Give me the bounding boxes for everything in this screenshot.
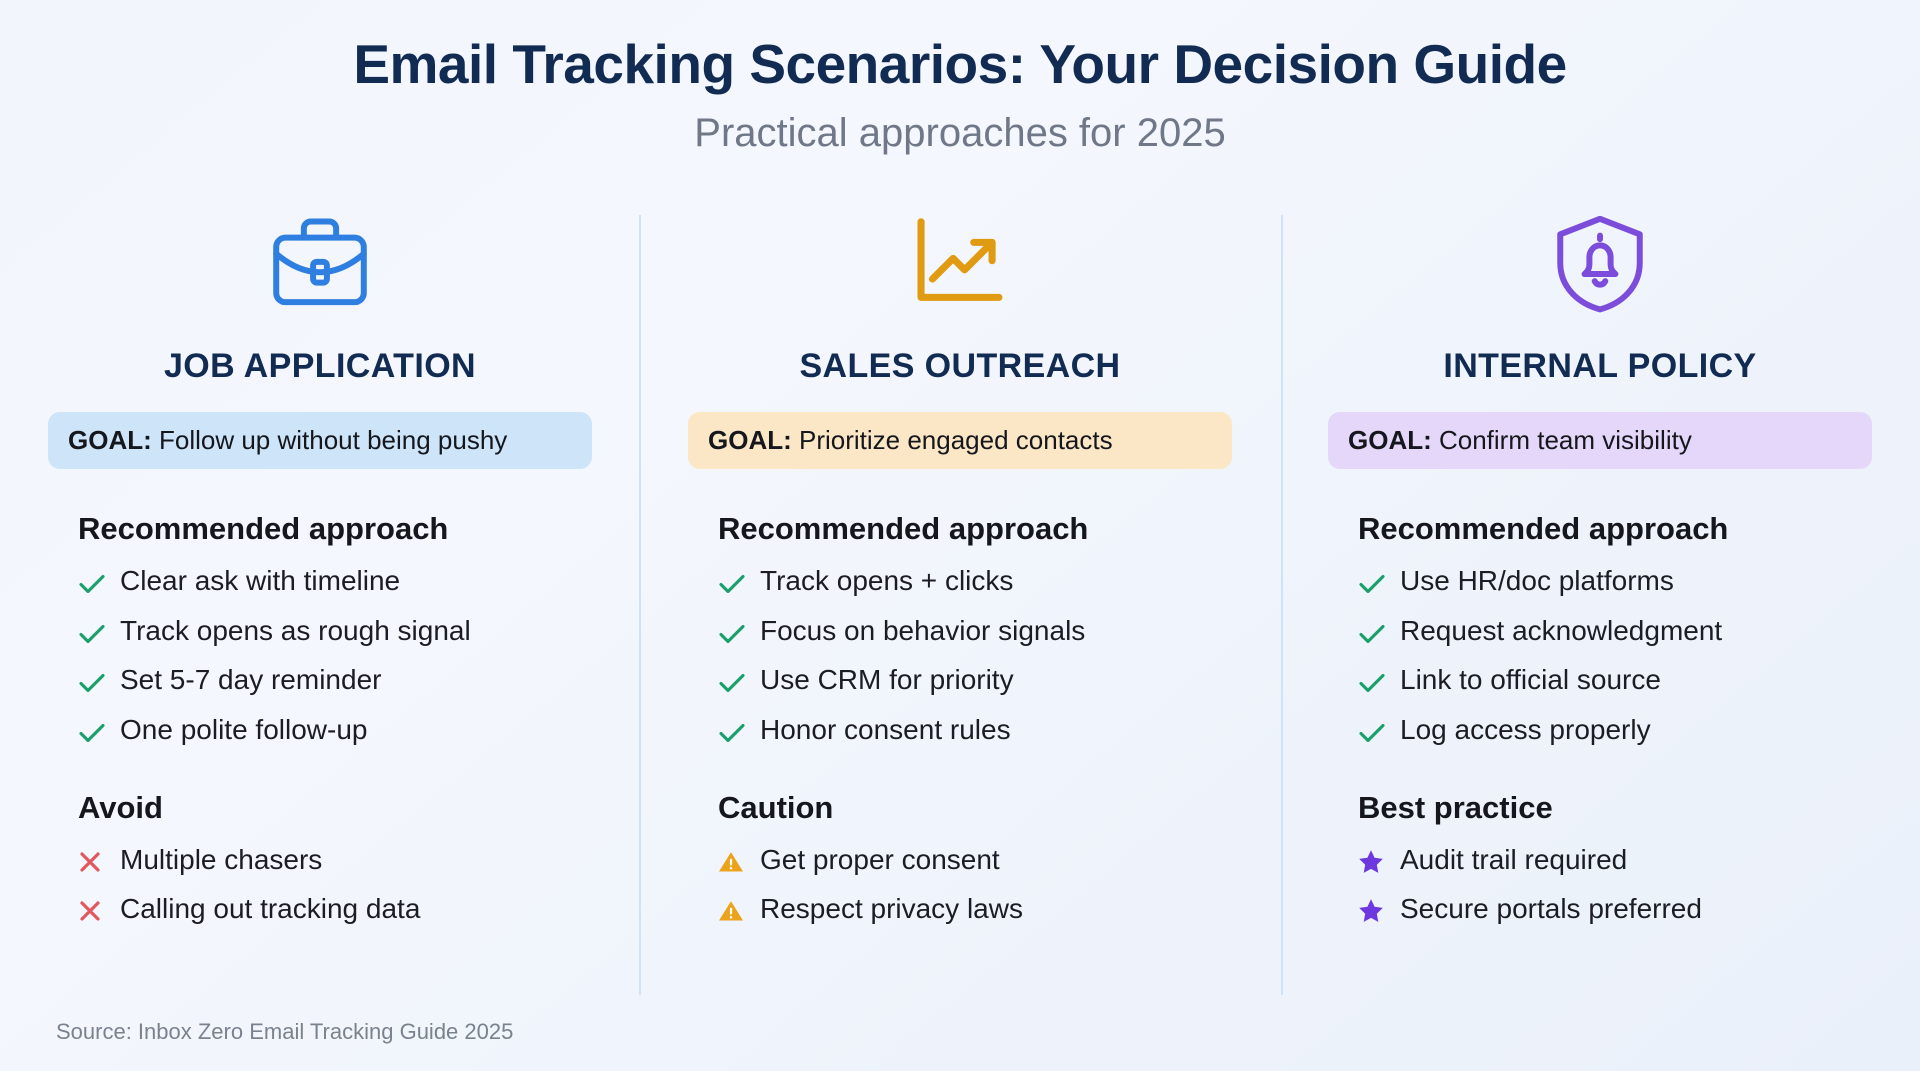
check-icon <box>718 715 746 756</box>
goal-text: Confirm team visibility <box>1432 425 1692 455</box>
section-heading: Best practice <box>1358 790 1872 826</box>
list-item-label: Honor consent rules <box>760 710 1011 751</box>
list-item: Track opens as rough signal <box>78 611 592 657</box>
list-item: Request acknowledgment <box>1358 611 1872 657</box>
cross-icon <box>78 894 102 935</box>
list-item-label: Focus on behavior signals <box>760 611 1085 652</box>
list-item: Secure portals preferred <box>1358 889 1872 935</box>
list-item-label: Audit trail required <box>1400 840 1627 881</box>
list-item: Calling out tracking data <box>78 889 592 935</box>
section-heading: Recommended approach <box>1358 511 1872 547</box>
list-item-label: Calling out tracking data <box>120 889 420 930</box>
check-icon <box>718 566 746 607</box>
page-subtitle: Practical approaches for 2025 <box>0 111 1920 155</box>
list-item: One polite follow-up <box>78 710 592 756</box>
column-title-internal-policy: INTERNAL POLICY <box>1328 347 1872 386</box>
check-icon <box>78 616 106 657</box>
check-icon <box>1358 566 1386 607</box>
list-item-label: Use CRM for priority <box>760 660 1014 701</box>
goal-label: GOAL: <box>68 425 152 455</box>
list-item-label: One polite follow-up <box>120 710 367 751</box>
section-heading: Recommended approach <box>78 511 592 547</box>
list-item: Use CRM for priority <box>718 660 1232 706</box>
list-item: Multiple chasers <box>78 840 592 886</box>
list-item-label: Link to official source <box>1400 660 1661 701</box>
check-icon <box>718 665 746 706</box>
warning-triangle-icon <box>718 845 744 886</box>
list-item: Respect privacy laws <box>718 889 1232 935</box>
section-sales-outreach-1: Caution Get proper consent Respect priva… <box>688 790 1232 935</box>
list-item-label: Log access properly <box>1400 710 1651 751</box>
bullet-list: Clear ask with timeline Track opens as r… <box>78 561 592 755</box>
goal-badge-job-application: GOAL: Follow up without being pushy <box>48 412 592 469</box>
bullet-list: Track opens + clicks Focus on behavior s… <box>718 561 1232 755</box>
section-sales-outreach-0: Recommended approach Track opens + click… <box>688 511 1232 755</box>
goal-badge-sales-outreach: GOAL: Prioritize engaged contacts <box>688 412 1232 469</box>
goal-label: GOAL: <box>1348 425 1432 455</box>
list-item-label: Track opens as rough signal <box>120 611 471 652</box>
section-internal-policy-1: Best practice Audit trail required Secur… <box>1328 790 1872 935</box>
check-icon <box>78 715 106 756</box>
list-item: Focus on behavior signals <box>718 611 1232 657</box>
list-item-label: Use HR/doc platforms <box>1400 561 1674 602</box>
list-item: Get proper consent <box>718 840 1232 886</box>
list-item-label: Track opens + clicks <box>760 561 1013 602</box>
check-icon <box>78 665 106 706</box>
list-item-label: Secure portals preferred <box>1400 889 1702 930</box>
star-icon <box>1358 894 1384 935</box>
check-icon <box>718 616 746 657</box>
bullet-list: Get proper consent Respect privacy laws <box>718 840 1232 935</box>
scenario-column-sales-outreach: SALES OUTREACHGOAL: Prioritize engaged c… <box>640 205 1280 939</box>
check-icon <box>78 566 106 607</box>
star-icon <box>1358 845 1384 886</box>
section-job-application-1: Avoid Multiple chasers Calling out track… <box>48 790 592 935</box>
list-item-label: Get proper consent <box>760 840 1000 881</box>
list-item: Use HR/doc platforms <box>1358 561 1872 607</box>
list-item-label: Multiple chasers <box>120 840 322 881</box>
check-icon <box>1358 715 1386 756</box>
column-title-sales-outreach: SALES OUTREACH <box>688 347 1232 386</box>
list-item: Set 5-7 day reminder <box>78 660 592 706</box>
section-heading: Avoid <box>78 790 592 826</box>
bullet-list: Audit trail required Secure portals pref… <box>1358 840 1872 935</box>
list-item-label: Clear ask with timeline <box>120 561 400 602</box>
list-item: Audit trail required <box>1358 840 1872 886</box>
scenario-column-internal-policy: INTERNAL POLICYGOAL: Confirm team visibi… <box>1280 205 1920 939</box>
bullet-list: Multiple chasers Calling out tracking da… <box>78 840 592 935</box>
infographic-page: Email Tracking Scenarios: Your Decision … <box>0 0 1920 1071</box>
scenario-column-job-application: JOB APPLICATIONGOAL: Follow up without b… <box>0 205 640 939</box>
source-footer: Source: Inbox Zero Email Tracking Guide … <box>56 1019 513 1045</box>
goal-badge-internal-policy: GOAL: Confirm team visibility <box>1328 412 1872 469</box>
bullet-list: Use HR/doc platforms Request acknowledgm… <box>1358 561 1872 755</box>
list-item-label: Set 5-7 day reminder <box>120 660 381 701</box>
header: Email Tracking Scenarios: Your Decision … <box>0 0 1920 155</box>
goal-label: GOAL: <box>708 425 792 455</box>
warning-triangle-icon <box>718 894 744 935</box>
section-heading: Recommended approach <box>718 511 1232 547</box>
goal-text: Follow up without being pushy <box>152 425 508 455</box>
list-item: Log access properly <box>1358 710 1872 756</box>
check-icon <box>1358 616 1386 657</box>
list-item-label: Respect privacy laws <box>760 889 1023 930</box>
list-item: Honor consent rules <box>718 710 1232 756</box>
section-heading: Caution <box>718 790 1232 826</box>
list-item: Link to official source <box>1358 660 1872 706</box>
column-title-job-application: JOB APPLICATION <box>48 347 592 386</box>
list-item: Clear ask with timeline <box>78 561 592 607</box>
section-internal-policy-0: Recommended approach Use HR/doc platform… <box>1328 511 1872 755</box>
cross-icon <box>78 845 102 886</box>
check-icon <box>1358 665 1386 706</box>
page-title: Email Tracking Scenarios: Your Decision … <box>0 34 1920 95</box>
shield-bell-icon <box>1328 205 1872 321</box>
list-item-label: Request acknowledgment <box>1400 611 1722 652</box>
columns-container: JOB APPLICATIONGOAL: Follow up without b… <box>0 205 1920 939</box>
section-job-application-0: Recommended approach Clear ask with time… <box>48 511 592 755</box>
list-item: Track opens + clicks <box>718 561 1232 607</box>
trending-up-chart-icon <box>688 205 1232 321</box>
goal-text: Prioritize engaged contacts <box>792 425 1113 455</box>
briefcase-icon <box>48 205 592 321</box>
